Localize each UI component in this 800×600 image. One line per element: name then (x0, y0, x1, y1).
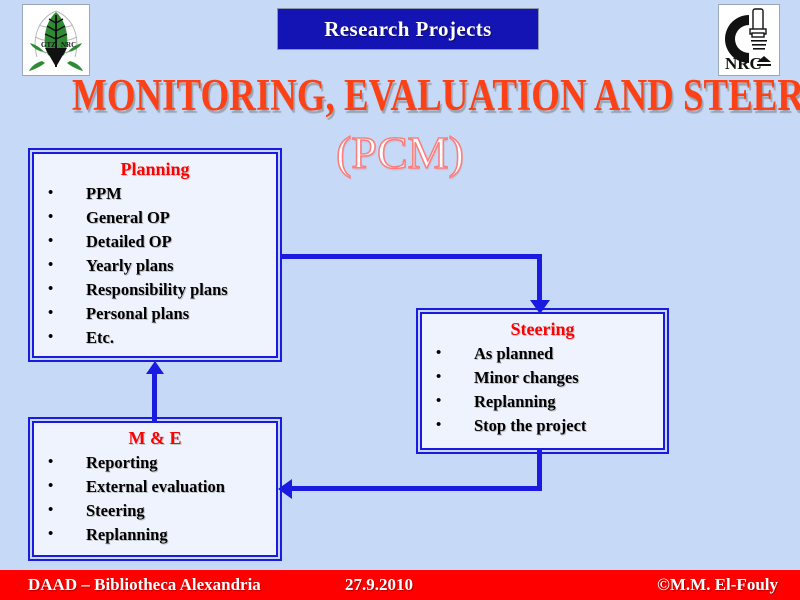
list-item: Steering (40, 499, 272, 523)
list-item: Yearly plans (40, 254, 272, 278)
list-item: Replanning (40, 523, 272, 547)
monitoring-evaluation-box: M & E Reporting External evaluation Stee… (32, 421, 278, 557)
list-item: External evaluation (40, 475, 272, 499)
connector-steering-to-me-vertical (537, 450, 542, 490)
monitoring-evaluation-box-heading: M & E (34, 428, 276, 449)
planning-box-list: PPM General OP Detailed OP Yearly plans … (34, 182, 276, 350)
gtz-nrc-leaf-logo: GTZ NRC (22, 4, 90, 76)
leaf-emblem-icon: GTZ NRC (23, 5, 89, 75)
footer-left-text: DAAD – Bibliotheca Alexandria (28, 575, 261, 595)
list-item: Minor changes (428, 366, 659, 390)
arrow-head-up-icon (146, 361, 164, 374)
steering-box-heading: Steering (422, 319, 663, 340)
list-item: Responsibility plans (40, 278, 272, 302)
connector-steering-to-me-horizontal (292, 486, 542, 491)
slide-canvas: GTZ NRC NRC Research Projects MONITORING… (0, 0, 800, 600)
planning-box-heading: Planning (34, 159, 276, 180)
planning-box: Planning PPM General OP Detailed OP Year… (32, 152, 278, 358)
list-item: PPM (40, 182, 272, 206)
footer-bar: DAAD – Bibliotheca Alexandria 27.9.2010 … (0, 570, 800, 600)
header-banner-text: Research Projects (324, 17, 492, 42)
list-item: Etc. (40, 326, 272, 350)
monitoring-evaluation-box-list: Reporting External evaluation Steering R… (34, 451, 276, 547)
connector-planning-to-steering-vertical (537, 254, 542, 302)
list-item: Replanning (428, 390, 659, 414)
list-item: As planned (428, 342, 659, 366)
list-item: Reporting (40, 451, 272, 475)
steering-box: Steering As planned Minor changes Replan… (420, 312, 665, 450)
header-banner: Research Projects (277, 8, 539, 50)
steering-box-list: As planned Minor changes Replanning Stop… (422, 342, 663, 438)
list-item: Detailed OP (40, 230, 272, 254)
arrow-head-left-icon (278, 479, 292, 499)
connector-planning-to-steering-horizontal (282, 254, 542, 259)
logo-left-caption-gtz: GTZ (41, 41, 56, 49)
list-item: Personal plans (40, 302, 272, 326)
footer-date-text: 27.9.2010 (345, 575, 413, 595)
list-item: Stop the project (428, 414, 659, 438)
nrc-microscope-logo: NRC (718, 4, 780, 76)
logo-left-caption-nrc: NRC (61, 41, 76, 49)
nrc-emblem-icon: NRC (719, 5, 779, 75)
page-title: MONITORING, EVALUATION AND STEERING (72, 70, 728, 120)
list-item: General OP (40, 206, 272, 230)
footer-credit-text: ©M.M. El-Fouly (657, 575, 778, 595)
connector-me-to-planning-vertical (152, 368, 157, 421)
